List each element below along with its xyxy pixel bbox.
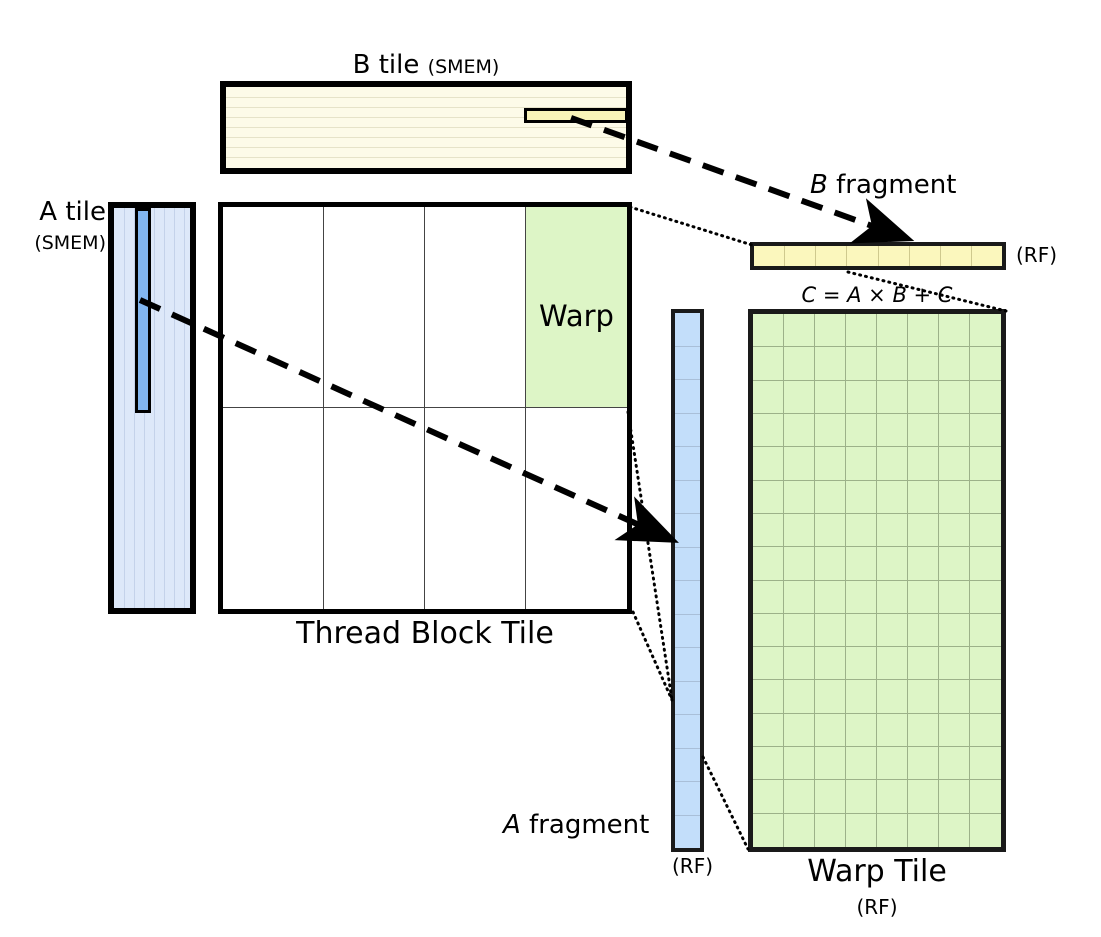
thread-block-cell	[223, 408, 324, 609]
warp-tile-cell	[877, 381, 908, 414]
a-tile-memory-label: (SMEM)	[34, 232, 106, 254]
connector-warp-bottomleft-to-a-fragment	[628, 412, 672, 700]
a-fragment-rf-block	[671, 309, 704, 852]
warp-tile-cell	[908, 614, 939, 647]
warp-tile-cell	[939, 347, 970, 380]
warp-tile-cell	[815, 314, 846, 347]
thread-block-cell	[526, 408, 627, 609]
connector-warp-to-b-fragment	[630, 207, 752, 245]
warp-tile-cell	[970, 381, 1001, 414]
warp-tile-cell	[784, 381, 815, 414]
warp-tile-cell	[877, 347, 908, 380]
b-tile-memory-label: (SMEM)	[428, 56, 500, 78]
warp-tile-cell	[939, 614, 970, 647]
warp-tile-cell	[877, 581, 908, 614]
warp-tile-cell	[753, 481, 784, 514]
warp-tile-cell	[939, 647, 970, 680]
warp-tile-cell	[970, 747, 1001, 780]
warp-tile-cell	[784, 547, 815, 580]
a-fragment-label-italic: A	[503, 810, 521, 840]
warp-tile-cell	[939, 314, 970, 347]
warp-tile-cell	[939, 514, 970, 547]
warp-tile-cell	[970, 647, 1001, 680]
b-tile-smem-block	[220, 81, 632, 174]
b-tile-highlighted-fragment	[524, 108, 628, 123]
warp-tile-cell	[877, 314, 908, 347]
warp-tile-cell	[753, 614, 784, 647]
warp-tile-cell	[939, 581, 970, 614]
connector-tb-bottomright-to-a-fragment	[633, 612, 672, 700]
warp-tile-cell	[939, 714, 970, 747]
warp-tile-cell	[908, 680, 939, 713]
warp-tile-cell	[815, 547, 846, 580]
warp-tile-cell	[877, 814, 908, 847]
warp-tile-cell	[784, 414, 815, 447]
warp-tile-cell	[815, 581, 846, 614]
warp-tile-cell	[908, 647, 939, 680]
warp-label: Warp	[526, 299, 627, 333]
warp-tile-grid	[753, 314, 1001, 847]
warp-tile-cell	[784, 647, 815, 680]
thread-block-cell	[324, 207, 425, 408]
b-tile-label: B tile	[353, 50, 428, 80]
warp-tile-cell	[753, 647, 784, 680]
warp-tile-cell	[784, 680, 815, 713]
warp-tile-cell	[846, 347, 877, 380]
warp-tile-caption: Warp Tile	[748, 857, 1006, 887]
warp-tile-cell	[939, 547, 970, 580]
warp-tile-cell	[815, 814, 846, 847]
b-fragment-label-rest: fragment	[828, 170, 957, 200]
warp-tile-cell	[815, 614, 846, 647]
warp-tile-cell	[908, 481, 939, 514]
warp-tile-cell	[877, 614, 908, 647]
warp-tile-cell	[784, 614, 815, 647]
b-fragment-title: B fragment	[810, 172, 956, 198]
warp-tile-cell	[846, 481, 877, 514]
warp-tile-cell	[908, 547, 939, 580]
warp-tile-cell	[815, 481, 846, 514]
warp-tile-cell	[753, 447, 784, 480]
warp-tile-cell	[970, 314, 1001, 347]
warp-tile-cell	[753, 581, 784, 614]
warp-tile-cell	[970, 780, 1001, 813]
warp-tile-cell	[846, 680, 877, 713]
a-fragment-title: A fragment	[503, 812, 649, 838]
thread-block-tile-block: Warp	[218, 202, 632, 614]
warp-tile-cell	[970, 347, 1001, 380]
warp-tile-cell	[815, 447, 846, 480]
warp-tile-cell	[846, 447, 877, 480]
warp-tile-cell	[970, 814, 1001, 847]
warp-tile-cell	[877, 414, 908, 447]
warp-tile-cell	[908, 780, 939, 813]
warp-tile-cell	[939, 447, 970, 480]
warp-tile-cell	[908, 347, 939, 380]
warp-tile-cell	[753, 314, 784, 347]
warp-tile-cell	[784, 447, 815, 480]
warp-tile-cell	[846, 747, 877, 780]
warp-tile-cell	[815, 747, 846, 780]
warp-tile-cell	[877, 514, 908, 547]
warp-tile-cell	[939, 814, 970, 847]
warp-tile-cell	[939, 780, 970, 813]
warp-tile-cell	[753, 347, 784, 380]
warp-tile-cell	[908, 514, 939, 547]
warp-tile-cell	[784, 347, 815, 380]
a-tile-label: A tile	[39, 197, 106, 227]
warp-tile-rf-block	[748, 309, 1006, 852]
warp-tile-cell	[784, 314, 815, 347]
warp-tile-cell	[877, 481, 908, 514]
warp-tile-cell	[815, 780, 846, 813]
thread-block-cell	[425, 408, 526, 609]
a-tile-title: A tile(SMEM)	[14, 198, 106, 256]
warp-tile-cell	[908, 381, 939, 414]
warp-tile-cell	[846, 514, 877, 547]
warp-tile-cell	[908, 747, 939, 780]
warp-tile-cell	[815, 514, 846, 547]
warp-tile-cell	[846, 414, 877, 447]
warp-tile-cell	[877, 714, 908, 747]
warp-tile-cell	[846, 547, 877, 580]
warp-tile-cell	[846, 647, 877, 680]
warp-tile-cell	[939, 481, 970, 514]
warp-tile-cell	[908, 814, 939, 847]
b-fragment-memory-label: (RF)	[1016, 245, 1057, 265]
warp-tile-cell	[877, 447, 908, 480]
warp-tile-cell	[939, 747, 970, 780]
warp-tile-cell	[877, 780, 908, 813]
warp-tile-cell	[939, 414, 970, 447]
thread-block-cell	[425, 207, 526, 408]
warp-tile-cell	[846, 314, 877, 347]
b-fragment-rf-block	[750, 242, 1006, 270]
warp-tile-cell	[846, 780, 877, 813]
warp-tile-cell	[877, 647, 908, 680]
a-tile-highlighted-fragment	[135, 208, 151, 413]
warp-tile-cell	[970, 447, 1001, 480]
warp-tile-cell	[908, 447, 939, 480]
warp-tile-cell	[784, 581, 815, 614]
warp-tile-cell	[753, 547, 784, 580]
warp-tile-cell	[815, 414, 846, 447]
warp-tile-cell	[939, 680, 970, 713]
warp-tile-cell	[908, 314, 939, 347]
warp-tile-cell	[815, 347, 846, 380]
warp-tile-cell	[784, 814, 815, 847]
warp-tile-cell	[784, 481, 815, 514]
warp-tile-cell	[784, 780, 815, 813]
warp-tile-memory-label: (RF)	[748, 897, 1006, 917]
warp-tile-cell	[815, 714, 846, 747]
b-tile-title: B tile (SMEM)	[220, 52, 632, 78]
warp-tile-cell	[846, 381, 877, 414]
thread-block-tile-caption: Thread Block Tile	[218, 619, 632, 649]
warp-tile-cell	[877, 747, 908, 780]
warp-tile-cell	[908, 581, 939, 614]
warp-tile-cell	[970, 680, 1001, 713]
warp-tile-cell	[846, 814, 877, 847]
warp-tile-cell	[753, 814, 784, 847]
warp-tile-cell	[970, 481, 1001, 514]
warp-tile-cell	[970, 414, 1001, 447]
warp-tile-cell	[784, 747, 815, 780]
warp-tile-cell	[877, 680, 908, 713]
warp-tile-cell	[846, 714, 877, 747]
warp-tile-cell	[815, 680, 846, 713]
thread-block-cell	[223, 207, 324, 408]
a-fragment-memory-label: (RF)	[672, 856, 705, 876]
warp-tile-cell	[784, 714, 815, 747]
warp-tile-cell	[784, 514, 815, 547]
warp-tile-equation: C = A × B + C	[748, 285, 1006, 306]
warp-tile-cell	[815, 647, 846, 680]
thread-block-cell-warp: Warp	[526, 207, 627, 408]
warp-tile-cell	[970, 614, 1001, 647]
warp-tile-cell	[846, 614, 877, 647]
connector-a-fragment-to-warp-tile	[703, 757, 748, 849]
warp-tile-cell	[970, 714, 1001, 747]
warp-tile-cell	[753, 514, 784, 547]
warp-tile-cell	[753, 780, 784, 813]
thread-block-cell	[324, 408, 425, 609]
warp-tile-cell	[970, 581, 1001, 614]
warp-tile-cell	[753, 414, 784, 447]
warp-tile-cell	[753, 747, 784, 780]
b-fragment-label-italic: B	[810, 170, 828, 200]
warp-tile-cell	[753, 714, 784, 747]
warp-tile-cell	[970, 547, 1001, 580]
warp-tile-cell	[753, 680, 784, 713]
warp-tile-cell	[877, 547, 908, 580]
warp-tile-cell	[846, 581, 877, 614]
warp-tile-cell	[970, 514, 1001, 547]
warp-tile-cell	[753, 381, 784, 414]
thread-block-tile-grid: Warp	[223, 207, 627, 609]
a-tile-smem-block	[108, 202, 196, 614]
warp-tile-cell	[908, 714, 939, 747]
warp-tile-cell	[908, 414, 939, 447]
a-fragment-label-rest: fragment	[521, 810, 650, 840]
warp-tile-cell	[815, 381, 846, 414]
warp-tile-cell	[939, 381, 970, 414]
